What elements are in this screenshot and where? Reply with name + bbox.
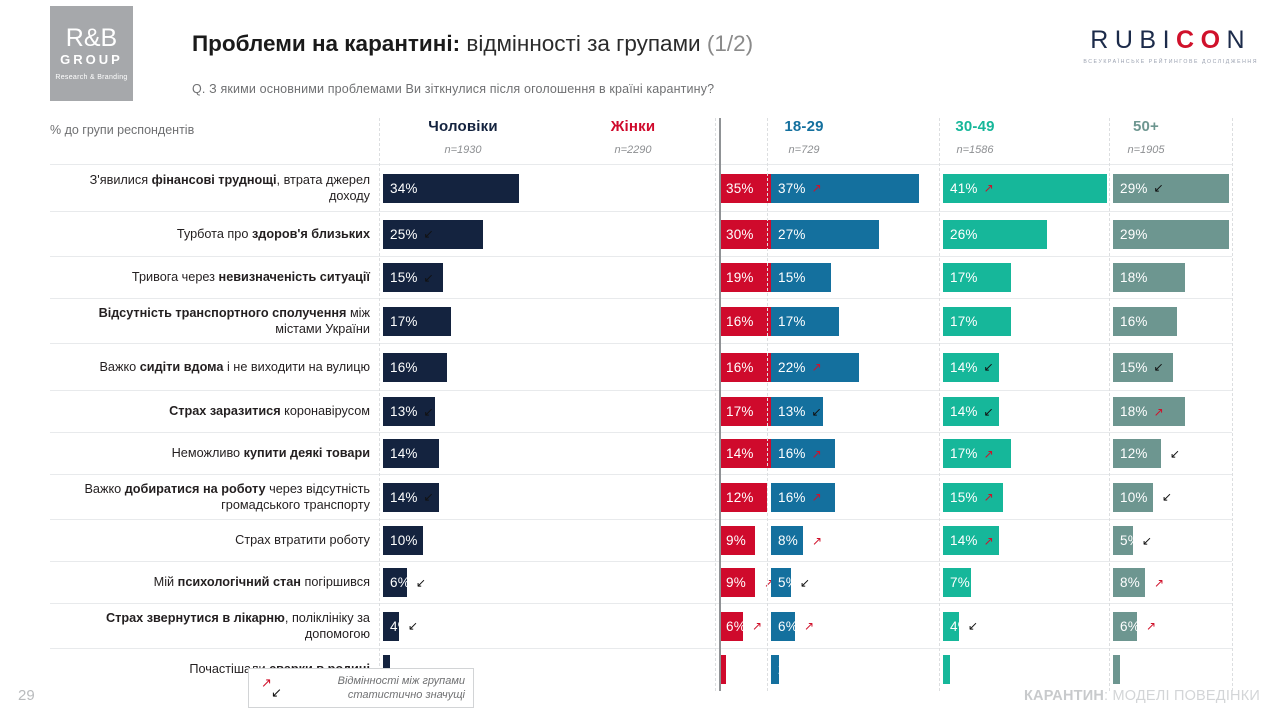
value-bar: 14%↙: [943, 353, 999, 382]
column-separator: [1232, 118, 1233, 691]
row-label-text: Неможливо купити деякі товари: [172, 445, 370, 462]
column-header-label: 18-29: [719, 118, 889, 136]
significance-down-icon: ↙: [424, 228, 434, 240]
significance-up-icon: ↗: [1154, 406, 1164, 418]
rubicon-logo: RUBICON всеукраїнське рейтингове дослідж…: [1083, 28, 1258, 65]
significance-up-icon: ↗: [984, 491, 994, 503]
value-bar: 15%: [771, 263, 831, 292]
value-bar: 37%↗: [771, 174, 919, 203]
value-label: 1%: [950, 662, 970, 677]
value-label: 16%: [390, 360, 418, 375]
data-cell: 16%: [383, 344, 447, 390]
value-bar: 16%↗: [771, 483, 835, 512]
value-label: 14%: [950, 360, 978, 375]
value-bar: 29%: [1113, 220, 1229, 249]
column-separator: [379, 118, 380, 691]
table-row: Почастішали сварки в родині1%1%2%1%1%: [50, 648, 1232, 690]
column-header-sample-size: n=1586: [890, 144, 1060, 156]
column-header-18-29: 18-29n=729: [719, 118, 889, 156]
data-cell: 8%↗: [1113, 562, 1145, 603]
value-bar: 14%↙: [943, 397, 999, 426]
value-label: 15%: [950, 490, 978, 505]
value-bar: 14%↙: [383, 483, 439, 512]
value-label: 4%: [390, 619, 410, 634]
column-header--: Чоловікиn=1930: [378, 118, 548, 156]
value-label: 14%: [726, 446, 754, 461]
value-label: 17%: [950, 314, 978, 329]
legend-text: Відмінності між групами статистично знач…: [295, 674, 473, 702]
value-bar: 13%↙: [383, 397, 435, 426]
data-cell: 22%↗: [771, 344, 859, 390]
significance-down-icon: ↙: [1154, 182, 1164, 194]
significance-down-icon: ↙: [408, 620, 418, 632]
row-label: Страх звернутися в лікарню, поліклініку …: [50, 604, 376, 648]
significance-up-icon: ↗: [760, 228, 770, 240]
data-cell: 16%: [1113, 299, 1177, 343]
value-label: 34%: [390, 181, 418, 196]
column-header-sample-size: n=2290: [548, 144, 718, 156]
table-row: Мій психологічний стан погіршився6%↙9%↗5…: [50, 561, 1232, 603]
question-subtitle: Q. З якими основними проблемами Ви зіткн…: [192, 82, 714, 96]
row-label: З'явилися фінансові труднощі, втрата дже…: [50, 165, 376, 211]
value-bar: 6%↗: [719, 612, 743, 641]
row-label-text: Відсутність транспортного сполучення між…: [50, 305, 370, 338]
value-label: 35%: [726, 181, 754, 196]
value-label: 16%: [726, 314, 754, 329]
data-cell: 15%↙: [1113, 344, 1173, 390]
row-label: Мій психологічний стан погіршився: [50, 562, 376, 603]
value-label: 16%: [778, 446, 806, 461]
value-label: 37%: [778, 181, 806, 196]
page-title-bold: Проблеми на карантині:: [192, 31, 460, 56]
table-body: З'явилися фінансові труднощі, втрата дже…: [50, 164, 1232, 690]
significance-up-icon: ↗: [760, 272, 770, 284]
rb-group-logo-initials: R&B: [66, 26, 117, 51]
data-cell: 16%↗: [771, 475, 835, 519]
row-label-text: Важко добиратися на роботу через відсутн…: [50, 481, 370, 514]
significance-down-icon: ↙: [424, 491, 434, 503]
value-bar: 9%↗: [719, 568, 755, 597]
data-cell: 18%↗: [1113, 391, 1185, 432]
data-cell: 6%↙: [383, 562, 407, 603]
value-bar: 8%↗: [1113, 568, 1145, 597]
table-row: З'явилися фінансові труднощі, втрата дже…: [50, 164, 1232, 211]
rubicon-logo-wordmark: RUBICON: [1083, 28, 1258, 53]
row-label: Важко сидіти вдома і не виходити на вули…: [50, 344, 376, 390]
rubicon-part-rubi: RUBI: [1090, 26, 1176, 54]
data-cell: 5%↙: [771, 562, 791, 603]
value-bar: 12%↗: [719, 483, 767, 512]
significance-up-icon: ↗: [984, 535, 994, 547]
value-bar: 4%↙: [943, 612, 959, 641]
data-cell: 29%: [1113, 212, 1229, 256]
row-label: Важко добиратися на роботу через відсутн…: [50, 475, 376, 519]
value-label: 10%: [1120, 490, 1148, 505]
value-label: 5%: [778, 575, 798, 590]
data-cell: 17%↗: [943, 433, 1011, 474]
page-title-light: відмінності за групами: [460, 31, 707, 56]
data-cell: 29%↙: [1113, 165, 1229, 211]
value-bar: 18%↗: [1113, 397, 1185, 426]
table-row: Неможливо купити деякі товари14%14%16%↗1…: [50, 432, 1232, 474]
value-bar: 16%: [1113, 307, 1177, 336]
rubicon-logo-tagline: всеукраїнське рейтингове дослідження: [1083, 59, 1258, 65]
table-row: Страх звернутися в лікарню, поліклініку …: [50, 603, 1232, 648]
value-bar: 15%↗: [943, 483, 1003, 512]
significance-down-icon: ↙: [1162, 491, 1172, 503]
significance-down-icon: ↙: [812, 406, 822, 418]
data-cell: 10%↙: [1113, 475, 1153, 519]
data-cell: 9%↗: [719, 562, 755, 603]
value-bar: 17%↗: [943, 439, 1011, 468]
value-label: 17%: [726, 404, 754, 419]
value-bar: 10%↙: [1113, 483, 1153, 512]
data-cell: 27%: [771, 212, 879, 256]
significance-down-icon: ↙: [968, 620, 978, 632]
value-bar: 27%: [771, 220, 879, 249]
significance-up-icon: ↗: [760, 406, 770, 418]
table-row: Страх заразитися коронавірусом13%↙17%↗13…: [50, 390, 1232, 432]
data-cell: 5%↙: [1113, 520, 1133, 561]
value-label: 22%: [778, 360, 806, 375]
footer-section-label: КАРАНТИН: МОДЕЛІ ПОВЕДІНКИ: [1024, 688, 1260, 704]
row-label: Страх заразитися коронавірусом: [50, 391, 376, 432]
data-cell: 4%↙: [383, 604, 399, 648]
rb-group-logo-word: GROUP: [60, 52, 123, 67]
data-cell: 14%↗: [943, 520, 999, 561]
significance-down-icon: ↙: [800, 577, 810, 589]
value-bar: 9%: [719, 526, 755, 555]
value-label: 17%: [778, 314, 806, 329]
value-bar: 6%↗: [1113, 612, 1137, 641]
value-label: 7%: [950, 575, 970, 590]
value-label: 16%: [778, 490, 806, 505]
data-cell: 14%↙: [943, 344, 999, 390]
value-bar: 8%↗: [771, 526, 803, 555]
value-bar: 2%: [771, 655, 779, 684]
table-row: Страх втратити роботу10%9%8%↗14%↗5%↙: [50, 519, 1232, 561]
table-row: Важко добиратися на роботу через відсутн…: [50, 474, 1232, 519]
data-cell: 10%: [383, 520, 423, 561]
footer-section-rest: : МОДЕЛІ ПОВЕДІНКИ: [1104, 688, 1260, 704]
value-label: 1%: [726, 662, 746, 677]
page-number: 29: [18, 687, 35, 704]
value-label: 12%: [726, 490, 754, 505]
value-label: 6%: [726, 619, 746, 634]
value-label: 8%: [1120, 575, 1140, 590]
value-bar: 26%: [943, 220, 1047, 249]
value-bar: 17%: [943, 307, 1011, 336]
row-label: Турбота про здоров'я близьких: [50, 212, 376, 256]
value-label: 10%: [390, 533, 418, 548]
significance-down-icon: ↙: [416, 577, 426, 589]
data-cell: 1%: [1113, 649, 1120, 690]
value-bar: 1%: [943, 655, 950, 684]
value-bar: 16%: [383, 353, 447, 382]
data-cell: 9%: [719, 520, 755, 561]
row-label-text: Страх звернутися в лікарню, поліклініку …: [50, 610, 370, 643]
data-cell: 6%↗: [719, 604, 743, 648]
significance-down-icon: ↙: [984, 361, 994, 373]
table-row: Тривога через невизначеність ситуації15%…: [50, 256, 1232, 298]
value-bar: 14%↗: [943, 526, 999, 555]
value-label: 16%: [726, 360, 754, 375]
value-label: 16%: [1120, 314, 1148, 329]
value-bar: 15%↙: [1113, 353, 1173, 382]
section-divider: [719, 118, 721, 691]
value-label: 6%: [778, 619, 798, 634]
significance-up-icon: ↗: [812, 448, 822, 460]
column-separator: [939, 118, 940, 691]
column-header-label: Чоловіки: [378, 118, 548, 136]
significance-up-icon: ↗: [812, 535, 822, 547]
data-cell: 14%↙: [383, 475, 439, 519]
significance-up-icon: ↗: [812, 491, 822, 503]
value-bar: 1%: [1113, 655, 1120, 684]
rb-group-logo: R&B GROUP Research & Branding: [50, 6, 133, 101]
value-bar: 4%↙: [383, 612, 399, 641]
value-label: 4%: [950, 619, 970, 634]
value-label: 19%: [726, 270, 754, 285]
data-cell: 4%↙: [943, 604, 959, 648]
value-bar: 34%: [383, 174, 519, 203]
value-bar: 13%↙: [771, 397, 823, 426]
significance-down-icon: ↙: [1170, 448, 1180, 460]
significance-down-icon: ↙: [1154, 361, 1164, 373]
significance-up-icon: ↗: [984, 182, 994, 194]
significance-up-icon: ↗: [804, 620, 814, 632]
value-bar: 14%: [383, 439, 439, 468]
value-label: 15%: [390, 270, 418, 285]
data-cell: 6%↗: [771, 604, 795, 648]
page-title: Проблеми на карантині: відмінності за гр…: [192, 31, 753, 57]
data-cell: 12%↙: [1113, 433, 1161, 474]
value-bar: 6%↗: [771, 612, 795, 641]
column-header-label: Жінки: [548, 118, 718, 136]
significance-up-icon: ↗: [984, 448, 994, 460]
column-separator: [767, 118, 768, 691]
table-row: Відсутність транспортного сполучення між…: [50, 298, 1232, 343]
table-row: Важко сидіти вдома і не виходити на вули…: [50, 343, 1232, 390]
table-row: Турбота про здоров'я близьких25%↙30%↗27%…: [50, 211, 1232, 256]
value-label: 13%: [778, 404, 806, 419]
value-label: 6%: [1120, 619, 1140, 634]
value-bar: 29%↙: [1113, 174, 1229, 203]
value-label: 1%: [1120, 662, 1140, 677]
page-title-part: (1/2): [707, 31, 753, 56]
data-cell: 18%: [1113, 257, 1185, 298]
value-label: 15%: [778, 270, 806, 285]
value-label: 14%: [390, 490, 418, 505]
data-cell: 17%: [943, 257, 1011, 298]
value-label: 14%: [950, 404, 978, 419]
data-cell: 26%: [943, 212, 1047, 256]
value-bar: 18%: [1113, 263, 1185, 292]
row-label: Страх втратити роботу: [50, 520, 376, 561]
value-label: 18%: [1120, 270, 1148, 285]
significance-down-icon: ↙: [424, 406, 434, 418]
value-bar: 5%↙: [1113, 526, 1133, 555]
value-bar: 12%↙: [1113, 439, 1161, 468]
arrow-down-icon: ↙: [271, 685, 282, 701]
value-bar: 5%↙: [771, 568, 791, 597]
column-header-sample-size: n=729: [719, 144, 889, 156]
value-label: 18%: [1120, 404, 1148, 419]
table-header-row: % до групи респондентів Чоловікиn=1930Жі…: [50, 118, 1232, 164]
value-label: 41%: [950, 181, 978, 196]
row-label-text: Страх втратити роботу: [235, 532, 370, 549]
data-cell: 7%: [943, 562, 971, 603]
value-label: 25%: [390, 227, 418, 242]
value-label: 5%: [1120, 533, 1140, 548]
column-header-30-49: 30-49n=1586: [890, 118, 1060, 156]
legend-line-2: статистично значущі: [295, 688, 465, 702]
significance-up-icon: ↗: [752, 620, 762, 632]
value-label: 29%: [1120, 181, 1148, 196]
data-cell: 25%↙: [383, 212, 483, 256]
column-separator: [1109, 118, 1110, 691]
value-label: 29%: [1120, 227, 1148, 242]
value-label: 2%: [778, 662, 798, 677]
data-cell: 15%↗: [943, 475, 1003, 519]
value-bar: 10%: [383, 526, 423, 555]
legend-arrow-icons: ↗ ↙: [249, 673, 295, 703]
data-cell: 17%: [771, 299, 839, 343]
value-label: 12%: [1120, 446, 1148, 461]
value-label: 13%: [390, 404, 418, 419]
significance-up-icon: ↗: [812, 361, 822, 373]
column-header-label: 30-49: [890, 118, 1060, 136]
data-cell: 17%: [943, 299, 1011, 343]
value-bar: 17%: [771, 307, 839, 336]
row-label-text: Важко сидіти вдома і не виходити на вули…: [99, 359, 370, 376]
value-label: 9%: [726, 533, 746, 548]
data-cell: 37%↗: [771, 165, 919, 211]
column-header-50+: 50+n=1905: [1061, 118, 1231, 156]
data-cell: 13%↙: [771, 391, 823, 432]
value-label: 17%: [390, 314, 418, 329]
significance-down-icon: ↙: [984, 406, 994, 418]
value-label: 14%: [390, 446, 418, 461]
value-bar: 25%↙: [383, 220, 483, 249]
row-label-text: Мій психологічний стан погіршився: [154, 574, 370, 591]
value-label: 26%: [950, 227, 978, 242]
data-cell: 1%: [943, 649, 950, 690]
row-label: Неможливо купити деякі товари: [50, 433, 376, 474]
data-cell: 15%↙: [383, 257, 443, 298]
data-cell: 41%↗: [943, 165, 1107, 211]
value-label: 6%: [390, 575, 410, 590]
value-bar: 16%↗: [771, 439, 835, 468]
row-label-text: Страх заразитися коронавірусом: [169, 403, 370, 420]
value-bar: 7%: [943, 568, 971, 597]
data-cell: 6%↗: [1113, 604, 1137, 648]
value-bar: 17%: [383, 307, 451, 336]
data-cell: 17%: [383, 299, 451, 343]
row-label-text: Турбота про здоров'я близьких: [177, 226, 370, 243]
column-separator: [715, 118, 716, 691]
comparison-table: % до групи респондентів Чоловікиn=1930Жі…: [50, 118, 1232, 690]
page-header: R&B GROUP Research & Branding Проблеми н…: [0, 0, 1280, 112]
significance-legend: ↗ ↙ Відмінності між групами статистично …: [248, 668, 474, 708]
rubicon-part-co: CO: [1176, 26, 1227, 54]
row-label-text: Тривога через невизначеність ситуації: [132, 269, 370, 286]
row-label: Тривога через невизначеність ситуації: [50, 257, 376, 298]
column-header-label: 50+: [1061, 118, 1231, 136]
footer-section-bold: КАРАНТИН: [1024, 688, 1104, 704]
significance-up-icon: ↗: [1146, 620, 1156, 632]
data-cell: 14%↙: [943, 391, 999, 432]
value-label: 14%: [950, 533, 978, 548]
data-cell: 2%: [771, 649, 779, 690]
data-cell: 13%↙: [383, 391, 435, 432]
column-header--: Жінкиn=2290: [548, 118, 718, 156]
significance-down-icon: ↙: [424, 272, 434, 284]
significance-up-icon: ↗: [1154, 577, 1164, 589]
value-label: 15%: [1120, 360, 1148, 375]
rubicon-part-n: N: [1227, 26, 1252, 54]
value-bar: 15%↙: [383, 263, 443, 292]
data-cell: 15%: [771, 257, 831, 298]
rb-group-logo-tagline: Research & Branding: [55, 74, 127, 81]
value-label: 27%: [778, 227, 806, 242]
row-label-text: З'явилися фінансові труднощі, втрата дже…: [50, 172, 370, 205]
row-label: Відсутність транспортного сполучення між…: [50, 299, 376, 343]
data-cell: 8%↗: [771, 520, 803, 561]
value-label: 17%: [950, 446, 978, 461]
data-cell: 34%: [383, 165, 519, 211]
value-bar: 6%↙: [383, 568, 407, 597]
data-cell: 12%↗: [719, 475, 767, 519]
value-label: 8%: [778, 533, 798, 548]
value-bar: 22%↗: [771, 353, 859, 382]
value-label: 30%: [726, 227, 754, 242]
value-bar: 17%: [943, 263, 1011, 292]
legend-line-1: Відмінності між групами: [295, 674, 465, 688]
column-header-sample-size: n=1905: [1061, 144, 1231, 156]
data-cell: 16%↗: [771, 433, 835, 474]
value-bar: 41%↗: [943, 174, 1107, 203]
significance-down-icon: ↙: [1142, 535, 1152, 547]
column-header-sample-size: n=1930: [378, 144, 548, 156]
value-label: 17%: [950, 270, 978, 285]
significance-up-icon: ↗: [812, 182, 822, 194]
data-cell: 14%: [383, 433, 439, 474]
table-note: % до групи респондентів: [50, 123, 194, 137]
value-label: 9%: [726, 575, 746, 590]
